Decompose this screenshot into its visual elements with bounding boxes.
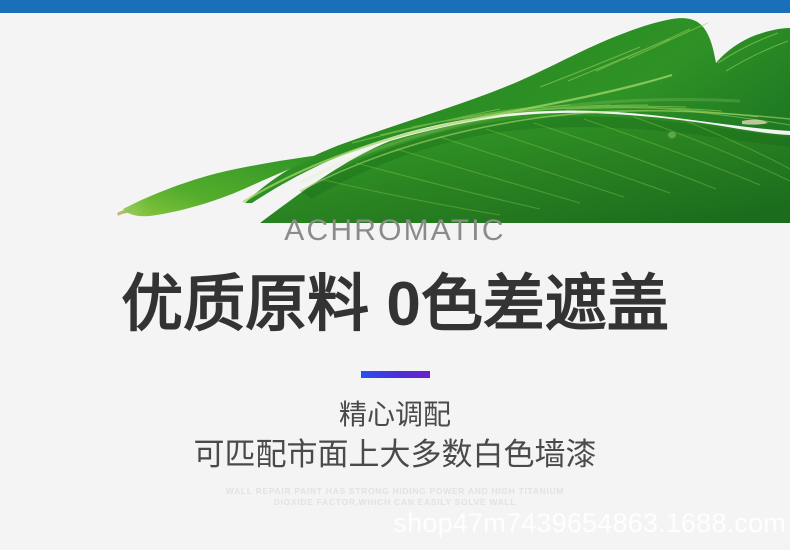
shop-url-watermark: shop47m7439654863.1688.com bbox=[393, 510, 786, 537]
promo-banner: ACHROMATIC 优质原料 0色差遮盖 精心调配 可匹配市面上大多数白色墙漆… bbox=[0, 0, 790, 550]
leaf-water-droplet bbox=[668, 132, 676, 139]
fineprint-watermark: WALL REPAIR PAINT HAS STRONG HIDING POWE… bbox=[0, 486, 790, 508]
page-title: 优质原料 0色差遮盖 bbox=[0, 272, 790, 337]
top-accent-bar bbox=[0, 0, 790, 13]
leaf-hero-image bbox=[0, 13, 790, 223]
eyebrow-text: ACHROMATIC bbox=[0, 216, 790, 246]
subtitle-line-1: 精心调配 bbox=[0, 399, 790, 431]
subtitle-line-2: 可匹配市面上大多数白色墙漆 bbox=[0, 437, 790, 473]
leaf-illustration bbox=[0, 13, 790, 223]
fineprint-line-2: DIOXIDE FACTOR,WHICH CAN EASILY SOLVE WA… bbox=[0, 497, 790, 508]
title-divider bbox=[361, 371, 430, 378]
fineprint-line-1: WALL REPAIR PAINT HAS STRONG HIDING POWE… bbox=[0, 486, 790, 497]
